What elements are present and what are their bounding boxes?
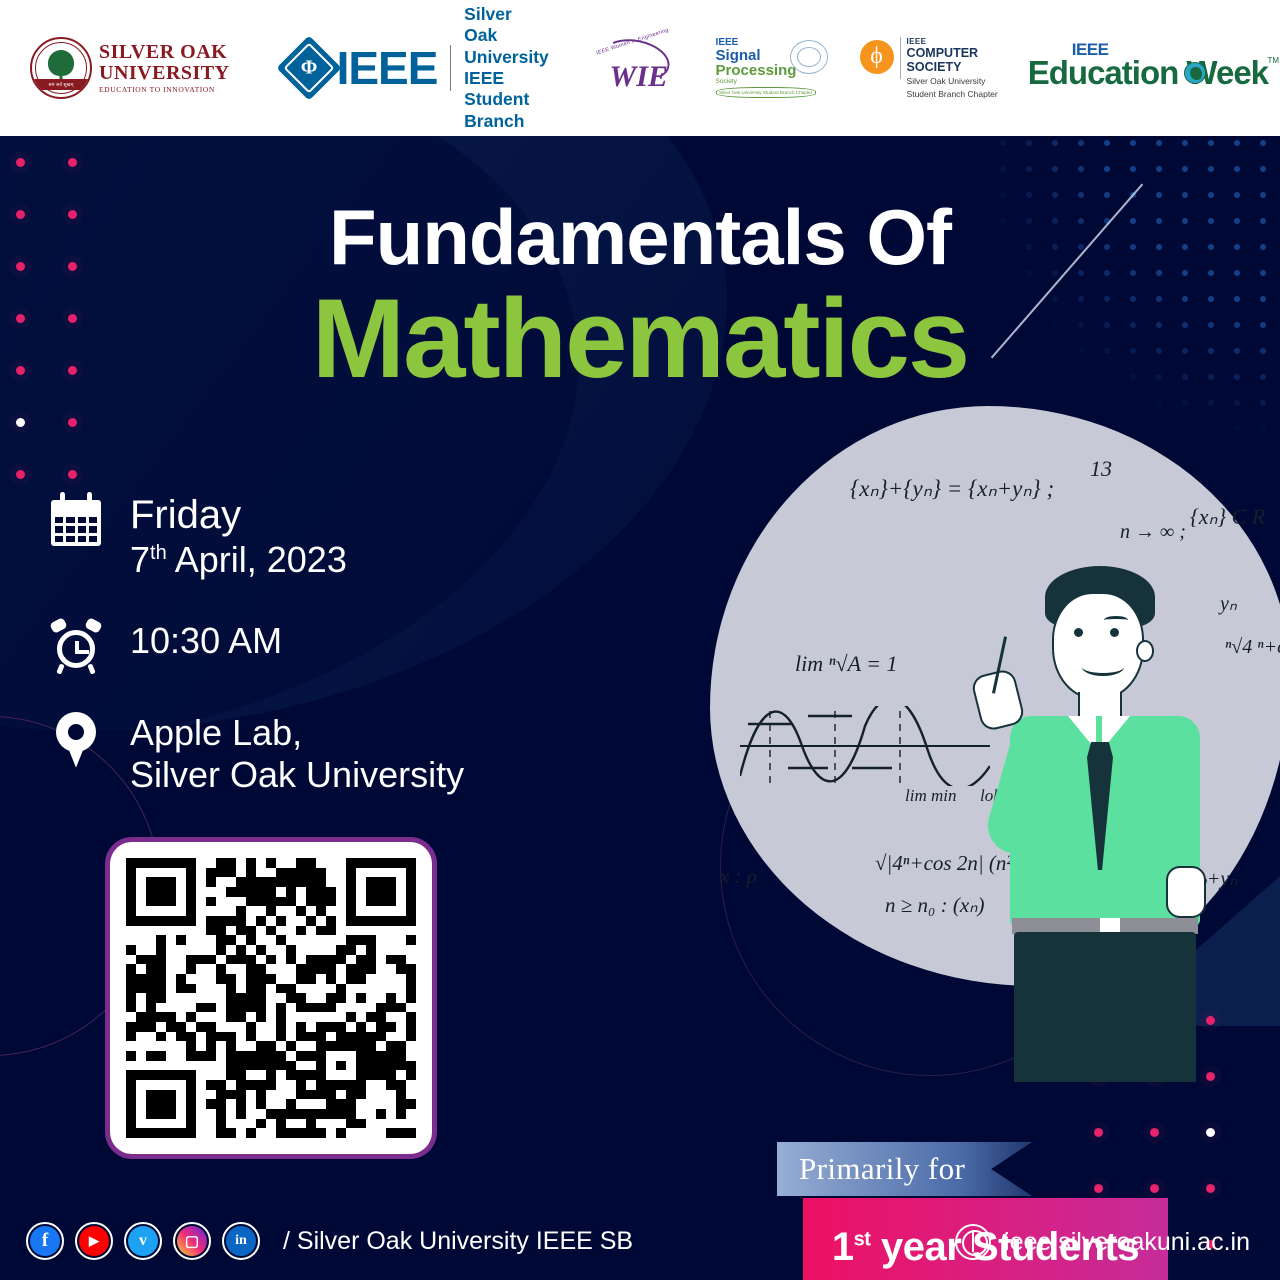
qr-module <box>386 877 396 887</box>
qr-module <box>216 1080 226 1090</box>
qr-module <box>196 897 206 907</box>
qr-module <box>156 877 166 887</box>
linkedin-icon[interactable]: in <box>222 1222 260 1260</box>
qr-module <box>376 964 386 974</box>
qr-module <box>256 1128 266 1138</box>
qr-module <box>226 955 236 965</box>
qr-module <box>196 858 206 868</box>
qr-module <box>406 868 416 878</box>
qr-module <box>396 1051 406 1061</box>
qr-module <box>396 1032 406 1042</box>
qr-module <box>256 964 266 974</box>
qr-module <box>166 993 176 1003</box>
equation-text: x : ρ <box>720 864 757 889</box>
qr-module <box>386 984 396 994</box>
qr-module <box>346 916 356 926</box>
qr-module <box>296 1119 306 1129</box>
qr-module <box>166 1003 176 1013</box>
qr-module <box>166 1051 176 1061</box>
qr-module <box>366 955 376 965</box>
qr-module <box>156 1061 166 1071</box>
qr-module <box>366 935 376 945</box>
qr-module <box>216 1061 226 1071</box>
qr-module <box>216 993 226 1003</box>
qr-module <box>126 964 136 974</box>
qr-module <box>396 1003 406 1013</box>
qr-module <box>126 858 136 868</box>
qr-module <box>386 1128 396 1138</box>
decorative-dot <box>16 470 25 479</box>
globe-icon <box>955 1224 991 1260</box>
qr-module <box>366 887 376 897</box>
qr-module <box>406 1109 416 1119</box>
cs-sub1: Silver Oak University <box>907 76 998 86</box>
qr-module <box>346 868 356 878</box>
qr-module <box>146 1109 156 1119</box>
qr-module <box>326 1109 336 1119</box>
qr-code-image[interactable] <box>126 858 416 1138</box>
qr-module <box>216 1051 226 1061</box>
qr-module <box>286 906 296 916</box>
poster-body: Fundamentals Of Mathematics Friday 7th A… <box>0 136 1280 1280</box>
decorative-dot <box>1206 1128 1215 1137</box>
qr-module <box>316 897 326 907</box>
qr-module <box>396 1041 406 1051</box>
qr-module <box>226 993 236 1003</box>
qr-module <box>226 906 236 916</box>
qr-module <box>216 1003 226 1013</box>
qr-module <box>366 916 376 926</box>
qr-module <box>256 1051 266 1061</box>
qr-module <box>176 935 186 945</box>
qr-module <box>296 955 306 965</box>
qr-module <box>326 945 336 955</box>
qr-module <box>206 1041 216 1051</box>
qr-module <box>396 945 406 955</box>
qr-module <box>356 1032 366 1042</box>
qr-module <box>166 858 176 868</box>
qr-module <box>206 955 216 965</box>
qr-module <box>146 877 156 887</box>
qr-module <box>346 1003 356 1013</box>
qr-module <box>276 935 286 945</box>
qr-module <box>366 906 376 916</box>
qr-module <box>206 1119 216 1129</box>
qr-module <box>396 993 406 1003</box>
qr-module <box>356 1022 366 1032</box>
qr-module <box>326 897 336 907</box>
qr-module <box>396 1022 406 1032</box>
qr-module <box>386 1012 396 1022</box>
qr-module <box>126 945 136 955</box>
qr-module <box>196 1003 206 1013</box>
qr-module <box>376 1041 386 1051</box>
qr-module <box>146 1003 156 1013</box>
qr-module <box>316 1012 326 1022</box>
qr-module <box>156 1099 166 1109</box>
qr-module <box>336 887 346 897</box>
qr-module <box>396 1109 406 1119</box>
qr-module <box>236 935 246 945</box>
qr-module <box>366 1128 376 1138</box>
qr-module <box>346 887 356 897</box>
qr-module <box>316 887 326 897</box>
qr-module <box>186 1080 196 1090</box>
qr-module <box>126 993 136 1003</box>
qr-module <box>366 868 376 878</box>
qr-module <box>276 945 286 955</box>
qr-module <box>356 984 366 994</box>
qr-module <box>266 1099 276 1109</box>
qr-module <box>206 1003 216 1013</box>
decorative-dot <box>1150 1184 1159 1193</box>
qr-module <box>396 1012 406 1022</box>
qr-module <box>236 1128 246 1138</box>
qr-module <box>146 926 156 936</box>
qr-module <box>266 1012 276 1022</box>
qr-module <box>306 926 316 936</box>
qr-module <box>166 887 176 897</box>
qr-module <box>216 868 226 878</box>
qr-module <box>336 916 346 926</box>
qr-module <box>256 877 266 887</box>
qr-module <box>246 1090 256 1100</box>
qr-module <box>186 1061 196 1071</box>
qr-module <box>186 897 196 907</box>
qr-module <box>146 1061 156 1071</box>
website-link[interactable]: ieee.silveroakuni.ac.in <box>955 1224 1250 1260</box>
qr-module <box>146 858 156 868</box>
qr-module <box>136 993 146 1003</box>
qr-module <box>136 1022 146 1032</box>
qr-module <box>136 858 146 868</box>
qr-module <box>396 974 406 984</box>
qr-module <box>246 955 256 965</box>
qr-module <box>396 1128 406 1138</box>
qr-module <box>186 1022 196 1032</box>
qr-module <box>406 1051 416 1061</box>
qr-module <box>376 955 386 965</box>
qr-module <box>406 964 416 974</box>
qr-module <box>296 1128 306 1138</box>
qr-module <box>336 1012 346 1022</box>
crest-motto: श्रमं सर्वं सुखम् <box>32 79 90 90</box>
qr-module <box>326 1080 336 1090</box>
qr-module <box>256 868 266 878</box>
qr-module <box>136 1051 146 1061</box>
qr-module <box>156 1041 166 1051</box>
qr-module <box>266 1128 276 1138</box>
qr-module <box>276 993 286 1003</box>
qr-module <box>316 868 326 878</box>
ear <box>1136 640 1154 662</box>
qr-module <box>226 935 236 945</box>
qr-module <box>136 926 146 936</box>
qr-module <box>376 858 386 868</box>
qr-module <box>196 1080 206 1090</box>
ieee-computer-society-logo: IEEE COMPUTER SOCIETY Silver Oak Univers… <box>860 37 998 98</box>
qr-module <box>256 1061 266 1071</box>
mathematics-illustration: {xₙ}+{yₙ} = {xₙ+yₙ} ; 13 {xₙ} C R n → ∞ … <box>690 396 1280 1036</box>
qr-module <box>346 858 356 868</box>
qr-module <box>336 1061 346 1071</box>
qr-module <box>296 1080 306 1090</box>
qr-module <box>406 974 416 984</box>
qr-module <box>126 984 136 994</box>
qr-module <box>246 906 256 916</box>
qr-module <box>346 1080 356 1090</box>
youtube-icon[interactable]: ▶ <box>75 1222 113 1260</box>
decorative-dot <box>68 158 77 167</box>
qr-module <box>346 1032 356 1042</box>
instagram-icon[interactable]: ▢ <box>173 1222 211 1260</box>
qr-module <box>196 1012 206 1022</box>
qr-module <box>386 1070 396 1080</box>
detail-row-date: Friday 7th April, 2023 <box>48 492 608 582</box>
qr-module <box>256 1041 266 1051</box>
qr-module <box>396 858 406 868</box>
qr-module <box>166 916 176 926</box>
event-day: Friday <box>130 492 347 539</box>
qr-module <box>376 1099 386 1109</box>
equation-text: {xₙ} C R <box>1190 504 1265 530</box>
qr-module <box>236 1099 246 1109</box>
alarm-clock-icon <box>48 620 104 674</box>
qr-module <box>406 1032 416 1042</box>
ieee-education-week-logo: IEEE Education Week TM <box>1028 44 1268 92</box>
qr-module <box>206 1051 216 1061</box>
qr-module <box>406 887 416 897</box>
qr-module <box>326 984 336 994</box>
qr-module <box>136 906 146 916</box>
qr-module <box>316 916 326 926</box>
qr-module <box>286 993 296 1003</box>
qr-module <box>156 984 166 994</box>
equation-text: n → ∞ ; <box>1120 521 1186 544</box>
qr-module <box>326 935 336 945</box>
qr-module <box>216 887 226 897</box>
qr-module <box>296 1051 306 1061</box>
qr-module <box>306 1061 316 1071</box>
qr-module <box>316 974 326 984</box>
qr-module <box>346 993 356 1003</box>
qr-module <box>146 897 156 907</box>
qr-module <box>356 877 366 887</box>
qr-module <box>406 1012 416 1022</box>
qr-module <box>216 984 226 994</box>
qr-module <box>256 916 266 926</box>
qr-module <box>376 897 386 907</box>
qr-module <box>336 993 346 1003</box>
qr-module <box>306 1128 316 1138</box>
qr-module <box>186 984 196 994</box>
qr-module <box>356 1090 366 1100</box>
qr-module <box>316 1032 326 1042</box>
qr-module <box>166 868 176 878</box>
qr-module <box>136 1109 146 1119</box>
qr-module <box>326 858 336 868</box>
qr-module <box>196 1032 206 1042</box>
qr-module <box>226 1099 236 1109</box>
ieee-wordmark: IEEE <box>337 41 438 95</box>
university-crest-icon: श्रमं सर्वं सुखम् <box>30 37 92 99</box>
qr-module <box>136 916 146 926</box>
qr-module <box>126 877 136 887</box>
qr-module <box>356 897 366 907</box>
hand-in-pocket <box>1166 866 1206 918</box>
qr-module <box>336 858 346 868</box>
qr-module <box>226 1070 236 1080</box>
qr-module <box>316 964 326 974</box>
qr-module <box>196 926 206 936</box>
qr-module <box>366 858 376 868</box>
qr-module <box>166 945 176 955</box>
qr-module <box>296 897 306 907</box>
qr-module <box>276 964 286 974</box>
equation-text: 13 <box>1090 456 1112 482</box>
qr-module <box>236 906 246 916</box>
qr-module <box>396 887 406 897</box>
qr-module <box>156 868 166 878</box>
qr-module <box>236 1003 246 1013</box>
computer-society-badge-icon <box>860 40 894 74</box>
qr-module <box>186 974 196 984</box>
qr-module <box>316 955 326 965</box>
qr-module <box>356 916 366 926</box>
qr-module <box>176 1061 186 1071</box>
qr-module <box>316 1080 326 1090</box>
qr-module <box>376 974 386 984</box>
qr-module <box>346 1109 356 1119</box>
qr-module <box>286 1012 296 1022</box>
qr-module <box>396 1080 406 1090</box>
qr-module <box>396 868 406 878</box>
qr-module <box>186 955 196 965</box>
qr-module <box>356 1109 366 1119</box>
qr-module <box>226 984 236 994</box>
qr-module <box>126 935 136 945</box>
qr-module <box>206 916 216 926</box>
qr-module <box>246 1022 256 1032</box>
qr-module <box>286 916 296 926</box>
qr-module <box>176 906 186 916</box>
qr-module <box>256 906 266 916</box>
qr-module <box>286 1119 296 1129</box>
qr-module <box>176 926 186 936</box>
qr-module <box>166 984 176 994</box>
qr-module <box>166 1070 176 1080</box>
qr-module <box>246 1119 256 1129</box>
footer-bar: f ▶ ᴠ ▢ in / Silver Oak University IEEE … <box>0 1208 1280 1280</box>
qr-module <box>286 1128 296 1138</box>
trousers <box>1014 932 1196 1082</box>
qr-module <box>216 858 226 868</box>
qr-module <box>236 926 246 936</box>
qr-module <box>306 877 316 887</box>
qr-module <box>296 964 306 974</box>
qr-module <box>126 926 136 936</box>
qr-module <box>336 1041 346 1051</box>
qr-module <box>186 1032 196 1042</box>
qr-module <box>216 974 226 984</box>
qr-module <box>136 868 146 878</box>
qr-module <box>246 1051 256 1061</box>
social-handle: / Silver Oak University IEEE SB <box>283 1227 633 1256</box>
ieee-diamond-icon: Φ <box>276 35 341 100</box>
qr-module <box>366 1032 376 1042</box>
qr-module <box>316 993 326 1003</box>
decorative-dot <box>16 418 25 427</box>
qr-module <box>256 926 266 936</box>
qr-module <box>146 1128 156 1138</box>
qr-code-card[interactable] <box>110 842 432 1154</box>
qr-module <box>146 993 156 1003</box>
qr-module <box>206 1080 216 1090</box>
qr-module <box>266 935 276 945</box>
qr-module <box>276 906 286 916</box>
qr-module <box>326 1090 336 1100</box>
qr-module <box>326 1032 336 1042</box>
qr-module <box>306 955 316 965</box>
ieee-sb-line1: Silver Oak University <box>464 4 549 68</box>
qr-module <box>376 993 386 1003</box>
facebook-icon[interactable]: f <box>26 1222 64 1260</box>
smile <box>1082 658 1124 676</box>
eye-left <box>1074 628 1083 637</box>
qr-module <box>286 984 296 994</box>
qr-module <box>346 1061 356 1071</box>
qr-module <box>356 906 366 916</box>
qr-module <box>246 1012 256 1022</box>
qr-module <box>176 868 186 878</box>
qr-module <box>276 984 286 994</box>
qr-module <box>176 1003 186 1013</box>
qr-module <box>206 1061 216 1071</box>
equation-text: lim min <box>905 786 956 806</box>
decorative-dot <box>1206 1184 1215 1193</box>
qr-module <box>286 935 296 945</box>
qr-module <box>306 1119 316 1129</box>
qr-module <box>376 935 386 945</box>
qr-module <box>206 1070 216 1080</box>
qr-module <box>336 1090 346 1100</box>
qr-module <box>246 858 256 868</box>
qr-module <box>196 964 206 974</box>
qr-module <box>386 1032 396 1042</box>
qr-module <box>296 1003 306 1013</box>
qr-module <box>336 877 346 887</box>
qr-module <box>136 887 146 897</box>
qr-module <box>196 887 206 897</box>
qr-module <box>356 887 366 897</box>
divider <box>900 37 901 79</box>
qr-module <box>336 1051 346 1061</box>
qr-module <box>376 1003 386 1013</box>
qr-module <box>156 993 166 1003</box>
qr-module <box>306 984 316 994</box>
qr-module <box>206 993 216 1003</box>
qr-module <box>366 1070 376 1080</box>
qr-module <box>206 1032 216 1042</box>
twitter-icon[interactable]: ᴠ <box>124 1222 162 1260</box>
qr-module <box>386 887 396 897</box>
qr-module <box>226 1003 236 1013</box>
qr-module <box>376 1080 386 1090</box>
qr-module <box>286 1070 296 1080</box>
qr-module <box>336 897 346 907</box>
qr-module <box>236 1022 246 1032</box>
qr-module <box>406 897 416 907</box>
